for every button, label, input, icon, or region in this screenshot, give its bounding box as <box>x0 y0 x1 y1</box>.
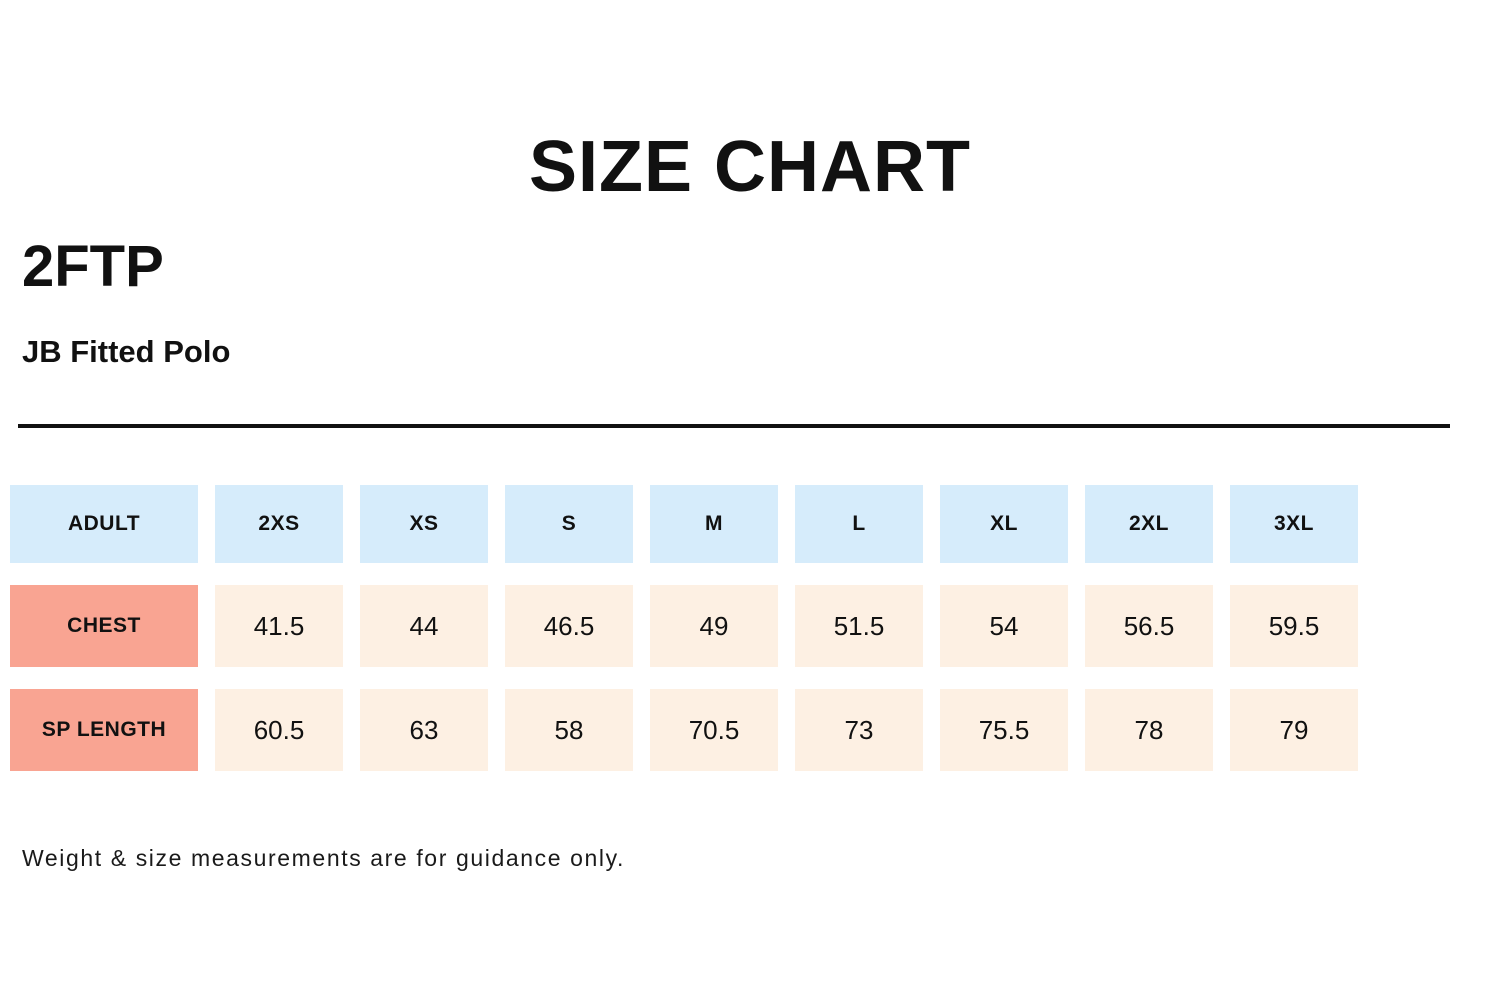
cell-sp-length-xl: 75.5 <box>940 689 1068 771</box>
column-header-xs: XS <box>360 485 488 563</box>
cell-chest-m: 49 <box>650 585 778 667</box>
cell-chest-l: 51.5 <box>795 585 923 667</box>
row-label-chest: CHEST <box>10 585 198 667</box>
table-row-sp-length: SP LENGTH 60.5 63 58 70.5 73 75.5 78 79 <box>10 689 1492 771</box>
cell-sp-length-2xs: 60.5 <box>215 689 343 771</box>
size-chart-page: SIZE CHART 2FTP JB Fitted Polo ADULT 2XS… <box>0 0 1500 1000</box>
cell-sp-length-l: 73 <box>795 689 923 771</box>
column-header-3xl: 3XL <box>1230 485 1358 563</box>
column-header-l: L <box>795 485 923 563</box>
column-header-m: M <box>650 485 778 563</box>
cell-sp-length-3xl: 79 <box>1230 689 1358 771</box>
column-header-adult: ADULT <box>10 485 198 563</box>
header-divider <box>18 424 1450 428</box>
cell-sp-length-s: 58 <box>505 689 633 771</box>
cell-chest-s: 46.5 <box>505 585 633 667</box>
product-name: JB Fitted Polo <box>22 336 230 367</box>
cell-chest-xl: 54 <box>940 585 1068 667</box>
cell-sp-length-m: 70.5 <box>650 689 778 771</box>
cell-chest-2xl: 56.5 <box>1085 585 1213 667</box>
column-header-2xs: 2XS <box>215 485 343 563</box>
column-header-xl: XL <box>940 485 1068 563</box>
page-title: SIZE CHART <box>0 131 1500 203</box>
size-table: ADULT 2XS XS S M L XL 2XL 3XL CHEST 41.5… <box>10 485 1492 771</box>
brand-name: 2FTP <box>22 238 164 296</box>
row-label-sp-length: SP LENGTH <box>10 689 198 771</box>
table-row-chest: CHEST 41.5 44 46.5 49 51.5 54 56.5 59.5 <box>10 585 1492 667</box>
column-header-s: S <box>505 485 633 563</box>
table-header-row: ADULT 2XS XS S M L XL 2XL 3XL <box>10 485 1492 563</box>
cell-sp-length-2xl: 78 <box>1085 689 1213 771</box>
cell-chest-xs: 44 <box>360 585 488 667</box>
cell-sp-length-xs: 63 <box>360 689 488 771</box>
column-header-2xl: 2XL <box>1085 485 1213 563</box>
guidance-footnote: Weight & size measurements are for guida… <box>22 845 625 872</box>
cell-chest-2xs: 41.5 <box>215 585 343 667</box>
cell-chest-3xl: 59.5 <box>1230 585 1358 667</box>
